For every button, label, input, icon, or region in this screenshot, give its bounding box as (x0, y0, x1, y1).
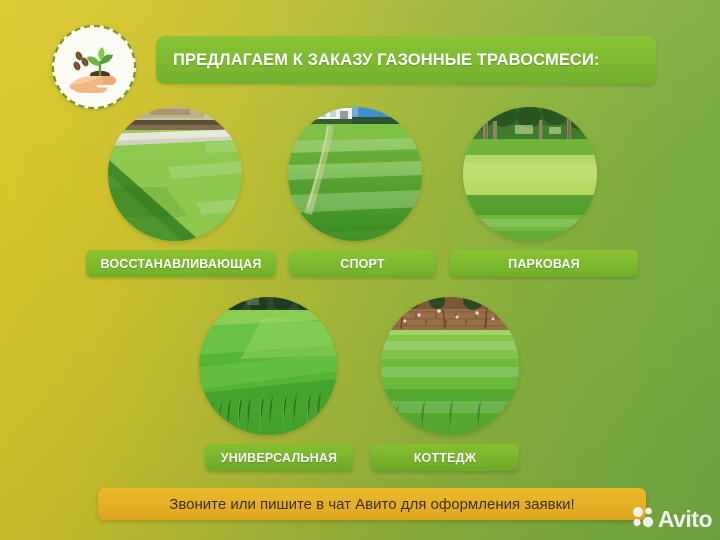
product-image-sport[interactable] (288, 107, 422, 241)
product-label-universal[interactable]: УНИВЕРСАЛЬНАЯ (205, 444, 353, 471)
avito-dots-logo-icon (632, 506, 654, 533)
product-label-sport[interactable]: СПОРТ (289, 250, 436, 277)
product-label-restoring[interactable]: ВОССТАНАВЛИВАЮЩАЯ (86, 250, 276, 277)
product-label-cottage[interactable]: КОТТЕДЖ (371, 444, 519, 471)
product-label-text: УНИВЕРСАЛЬНАЯ (221, 451, 337, 465)
product-label-text: ВОССТАНАВЛИВАЮЩАЯ (100, 257, 261, 271)
product-image-restoring[interactable] (108, 107, 242, 241)
product-label-text: ПАРКОВАЯ (508, 257, 580, 271)
page-title: ПРЕДЛАГАЕМ К ЗАКАЗУ ГАЗОННЫЕ ТРАВОСМЕСИ: (173, 51, 600, 70)
brand-logo-badge (52, 25, 136, 109)
cta-banner[interactable]: Звоните или пишите в чат Авито для оформ… (98, 488, 646, 520)
product-label-text: СПОРТ (340, 257, 385, 271)
avito-watermark: Avito (632, 506, 712, 533)
product-label-text: КОТТЕДЖ (414, 451, 477, 465)
promo-banner: ПРЕДЛАГАЕМ К ЗАКАЗУ ГАЗОННЫЕ ТРАВОСМЕСИ: (0, 0, 720, 540)
header-title-bar: ПРЕДЛАГАЕМ К ЗАКАЗУ ГАЗОННЫЕ ТРАВОСМЕСИ: (156, 36, 656, 84)
product-label-park[interactable]: ПАРКОВАЯ (450, 250, 638, 277)
product-image-park[interactable] (463, 107, 597, 241)
product-image-cottage[interactable] (381, 297, 519, 435)
cta-text: Звоните или пишите в чат Авито для оформ… (169, 496, 574, 513)
avito-wordmark: Avito (658, 508, 712, 531)
product-image-universal[interactable] (199, 297, 337, 435)
hand-holding-sprout-icon (63, 36, 125, 98)
